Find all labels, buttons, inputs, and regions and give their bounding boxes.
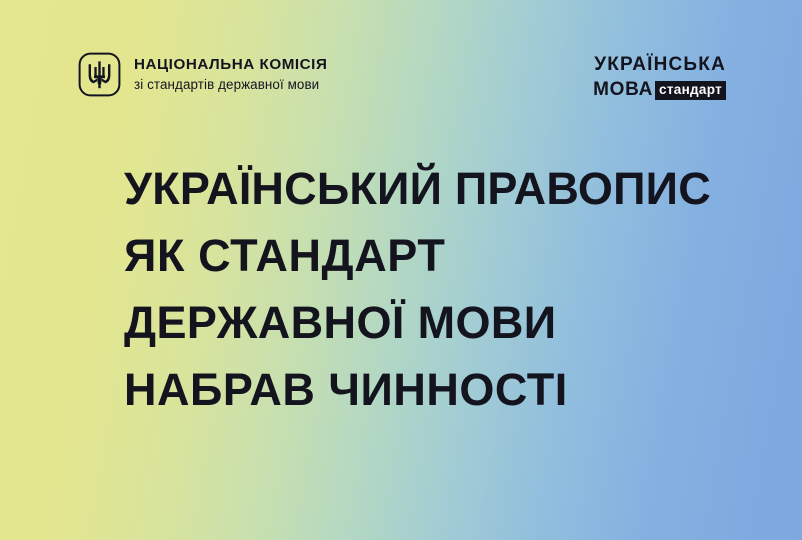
commission-logo-line1: НАЦІОНАЛЬНА КОМІСІЯ bbox=[134, 57, 327, 72]
headline-block: УКРАЇНСЬКИЙ ПРАВОПИС ЯК СТАНДАРТ ДЕРЖАВН… bbox=[124, 155, 711, 423]
commission-logo: НАЦІОНАЛЬНА КОМІСІЯ зі стандартів держав… bbox=[78, 52, 327, 97]
headline-line-2: ЯК СТАНДАРТ bbox=[124, 222, 711, 289]
ukrainian-trident-emblem-icon bbox=[78, 52, 121, 97]
headline-line-1: УКРАЇНСЬКИЙ ПРАВОПИС bbox=[124, 155, 711, 222]
poster-header: НАЦІОНАЛЬНА КОМІСІЯ зі стандартів держав… bbox=[0, 0, 802, 140]
standard-badge: стандарт bbox=[655, 81, 726, 100]
commission-logo-text: НАЦІОНАЛЬНА КОМІСІЯ зі стандартів держав… bbox=[134, 57, 327, 92]
commission-logo-line2: зі стандартів державної мови bbox=[134, 78, 327, 91]
language-logo-line2: МОВА стандарт bbox=[593, 80, 726, 99]
headline-line-3: ДЕРЖАВНОЇ МОВИ bbox=[124, 289, 711, 356]
headline-line-4: НАБРАВ ЧИННОСТІ bbox=[124, 356, 711, 423]
poster-canvas: НАЦІОНАЛЬНА КОМІСІЯ зі стандартів держав… bbox=[0, 0, 802, 540]
language-logo-line1: УКРАЇНСЬКА bbox=[593, 55, 726, 74]
language-standard-logo: УКРАЇНСЬКА МОВА стандарт bbox=[593, 55, 726, 99]
language-logo-word: МОВА bbox=[593, 80, 653, 99]
